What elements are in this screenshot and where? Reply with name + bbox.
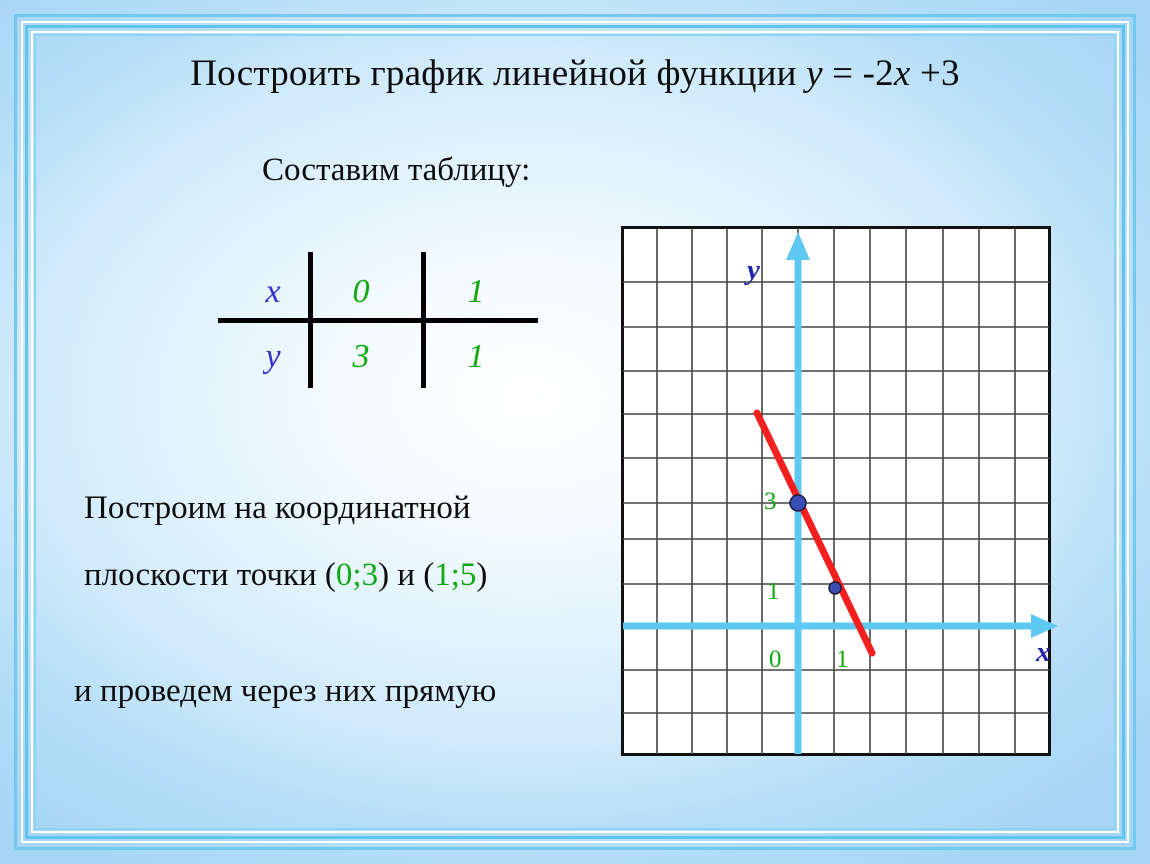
title-formula-equals: = -2 [823,53,894,94]
slide-canvas: Построить график линейной функции y = -2… [0,0,1150,864]
instruction-line-2-part-b: ) и ( [378,557,434,593]
title-formula-y: y [806,53,823,94]
point-value-2: 1;5 [434,557,476,593]
x-axis-label: x [1036,636,1051,669]
function-line [757,413,872,653]
table-vertical-rule-2 [421,252,426,388]
table-row-header-x: x [243,273,303,311]
x-axis-arrowhead [1031,614,1058,638]
instruction-line-2: плоскости точки (0;3) и (1;5) [84,557,487,594]
table-row-header-y: y [243,338,303,376]
table-cell-x-0: 0 [331,273,391,311]
instruction-line-3: и проведем через них прямую [74,673,496,710]
x-tick-label-1: 1 [836,646,849,674]
coordinate-plane: y x 3 1 0 1 [621,226,1051,756]
origin-label-0: 0 [769,646,782,674]
subtitle-make-table: Составим таблицу: [262,152,530,189]
title-formula-tail: +3 [911,53,960,94]
y-tick-label-3: 3 [764,488,777,516]
point-value-1: 0;3 [336,557,378,593]
grid-lines [623,228,1049,754]
y-tick-label-1: 1 [767,578,780,606]
table-cell-y-1: 1 [446,338,506,376]
instruction-line-2-part-c: ) [476,557,487,593]
table-vertical-rule-1 [308,252,313,388]
title-formula-x: x [894,53,911,94]
plotted-point-1-1 [829,582,841,594]
y-axis-label: y [747,254,760,287]
value-table: x 0 1 y 3 1 [218,252,538,388]
page-title: Построить график линейной функции y = -2… [0,52,1150,95]
graph-svg [621,226,1051,756]
title-text: Построить график линейной функции [190,53,806,94]
table-cell-y-0: 3 [331,338,391,376]
plotted-point-0-3 [790,495,806,511]
table-horizontal-rule [218,318,538,323]
instruction-line-1: Построим на координатной [84,490,471,527]
table-cell-x-1: 1 [446,273,506,311]
instruction-line-2-part-a: плоскости точки ( [84,557,336,593]
y-axis-arrowhead [786,232,810,260]
